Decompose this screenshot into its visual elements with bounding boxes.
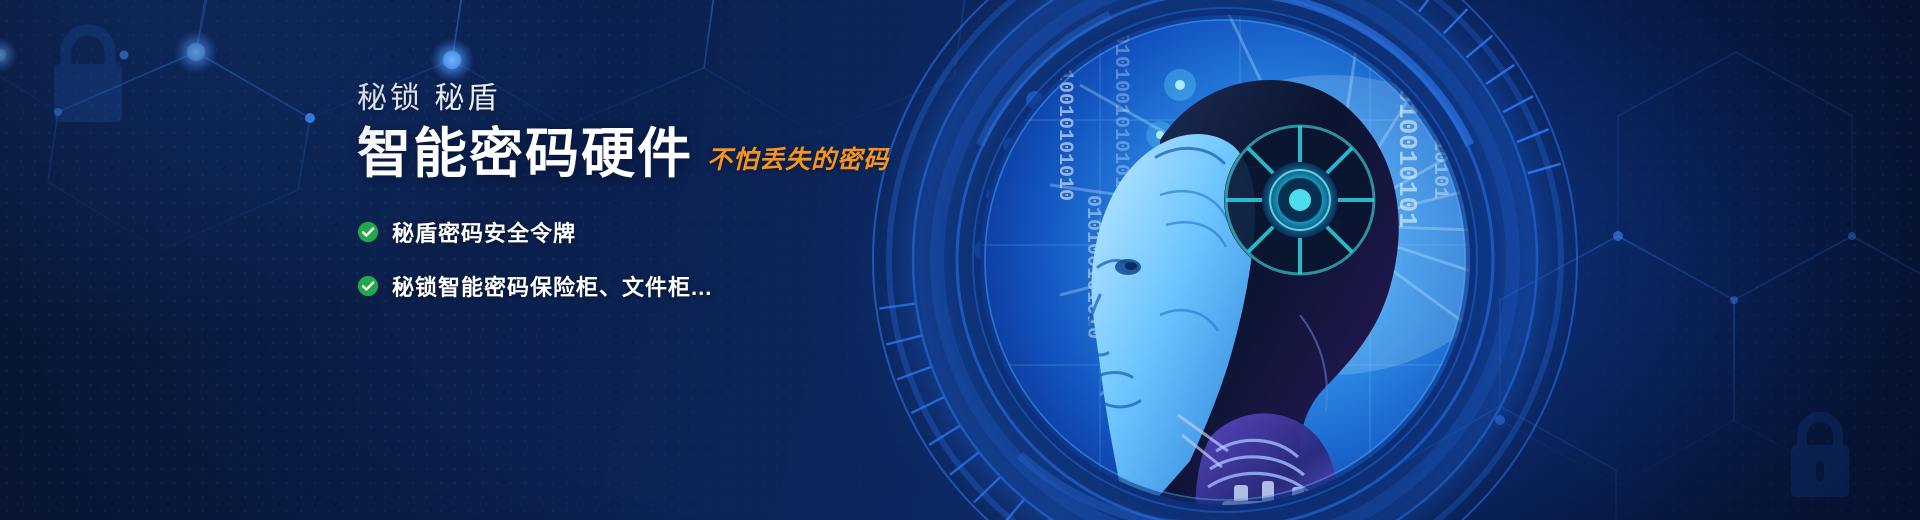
banner-copy: 秘锁 秘盾 智能密码硬件 不怕丢失的密码 秘盾密码安全令牌 秘锁智能密码保险柜、… [357,80,977,302]
check-circle-icon [357,275,379,297]
feature-item-1[interactable]: 秘盾密码安全令牌 [357,216,977,248]
feature-item-2[interactable]: 秘锁智能密码保险柜、文件柜... [357,270,977,302]
banner-eyebrow: 秘锁 秘盾 [357,80,977,118]
lock-icon [40,18,136,128]
headline-row: 智能密码硬件 不怕丢失的密码 [357,124,977,184]
feature-list: 秘盾密码安全令牌 秘锁智能密码保险柜、文件柜... [357,216,977,302]
lock-icon-secondary [1780,405,1860,501]
hero-banner: 1010010101010 010100101010 1010100101010… [0,0,1920,520]
feature-item-2-label: 秘锁智能密码保险柜、文件柜... [392,270,712,302]
banner-headline: 智能密码硬件 [357,124,693,184]
feature-item-1-label: 秘盾密码安全令牌 [392,216,576,248]
check-circle-icon [357,221,379,243]
banner-subline: 不怕丢失的密码 [707,140,889,184]
